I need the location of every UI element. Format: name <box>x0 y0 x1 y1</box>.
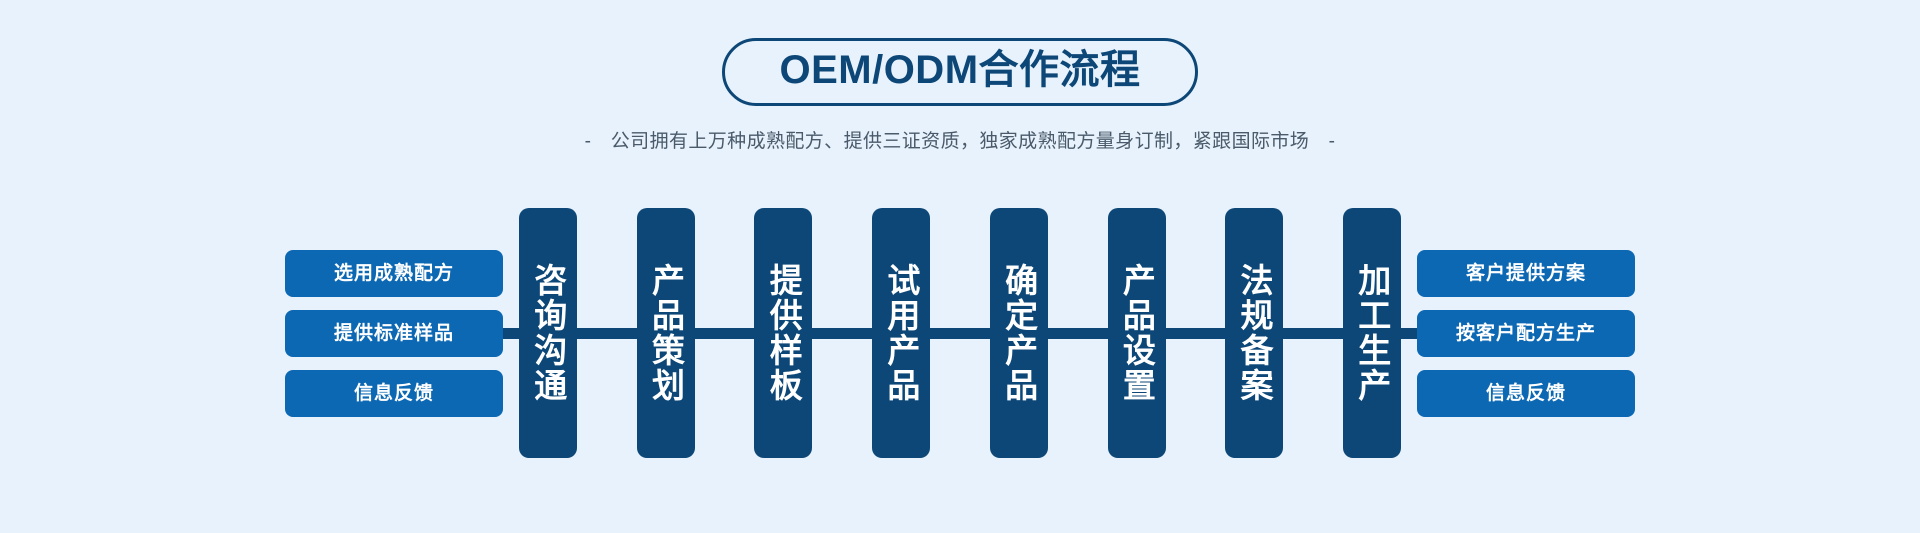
left-pill-2[interactable]: 提供标准样品 <box>285 310 503 357</box>
title-pill: OEM/ODM合作流程 <box>722 38 1197 106</box>
page-title: OEM/ODM合作流程 <box>779 50 1140 90</box>
step-5-label: 确定产品 <box>1000 263 1038 403</box>
step-7[interactable]: 法规备案 <box>1225 208 1283 458</box>
step-3[interactable]: 提供样板 <box>754 208 812 458</box>
step-6-label: 产品设置 <box>1118 263 1156 403</box>
step-7-label: 法规备案 <box>1235 263 1273 403</box>
page-subtitle: - 公司拥有上万种成熟配方、提供三证资质，独家成熟配方量身订制，紧跟国际市场 - <box>0 126 1920 153</box>
left-pill-1[interactable]: 选用成熟配方 <box>285 250 503 297</box>
step-4[interactable]: 试用产品 <box>872 208 930 458</box>
right-pill-1[interactable]: 客户提供方案 <box>1417 250 1635 297</box>
step-2[interactable]: 产品策划 <box>637 208 695 458</box>
right-pill-3[interactable]: 信息反馈 <box>1417 370 1635 417</box>
left-label-column: 选用成熟配方 提供标准样品 信息反馈 <box>285 250 503 417</box>
right-pill-2[interactable]: 按客户配方生产 <box>1417 310 1635 357</box>
step-5[interactable]: 确定产品 <box>990 208 1048 458</box>
step-3-label: 提供样板 <box>765 263 803 403</box>
step-8[interactable]: 加工生产 <box>1343 208 1401 458</box>
step-4-label: 试用产品 <box>882 263 920 403</box>
step-1[interactable]: 咨询沟通 <box>519 208 577 458</box>
left-pill-3[interactable]: 信息反馈 <box>285 370 503 417</box>
step-1-label: 咨询沟通 <box>529 263 567 403</box>
process-flow: 选用成熟配方 提供标准样品 信息反馈 咨询沟通 产品策划 提供样板 试用产品 <box>0 208 1920 458</box>
step-columns: 咨询沟通 产品策划 提供样板 试用产品 确定产品 产品设置 法规 <box>503 208 1417 458</box>
step-2-label: 产品策划 <box>647 263 685 403</box>
step-8-label: 加工生产 <box>1353 263 1391 403</box>
oem-odm-process-banner: OEM/ODM合作流程 - 公司拥有上万种成熟配方、提供三证资质，独家成熟配方量… <box>0 0 1920 533</box>
step-6[interactable]: 产品设置 <box>1108 208 1166 458</box>
right-label-column: 客户提供方案 按客户配方生产 信息反馈 <box>1417 250 1635 417</box>
banner-header: OEM/ODM合作流程 - 公司拥有上万种成熟配方、提供三证资质，独家成熟配方量… <box>0 0 1920 153</box>
